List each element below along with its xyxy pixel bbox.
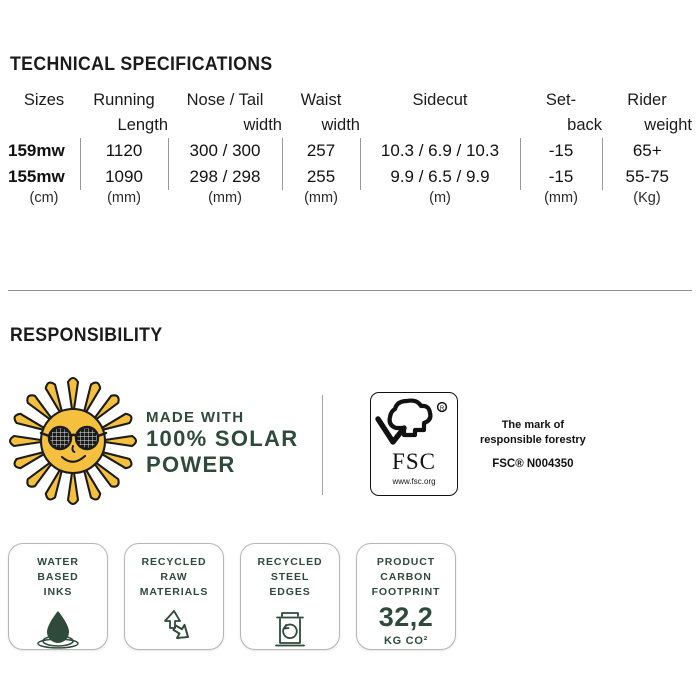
solar-line-1: MADE WITH	[146, 409, 298, 426]
section-divider	[8, 290, 692, 291]
col-header-waist-width: Waist width	[282, 88, 360, 138]
eco-label-line-1: RECYCLED	[142, 556, 207, 568]
col-header-setback-line2: back	[520, 113, 602, 138]
cell-sidecut: 9.9 / 6.5 / 9.9	[360, 164, 520, 190]
eco-badge-recycled-raw-materials: RECYCLED RAW MATERIALS	[124, 543, 224, 650]
sun-with-sunglasses-icon	[8, 376, 138, 511]
eco-badge-label: PRODUCT CARBON FOOTPRINT	[372, 555, 441, 601]
unit-nose-tail-width: (mm)	[168, 190, 282, 206]
cell-size: 155mw	[8, 164, 80, 190]
cell-nose-tail-width: 300 / 300	[168, 138, 282, 164]
col-header-rider-weight: Rider weight	[602, 88, 692, 138]
svg-text:R: R	[440, 406, 445, 412]
cell-running-length: 1090	[80, 164, 168, 190]
table-units-row: (cm) (mm) (mm) (mm) (m) (mm) (Kg)	[8, 190, 692, 206]
col-header-sizes: Sizes	[8, 88, 80, 138]
fsc-certification-block: R FSC www.fsc.org The mark of responsibl…	[370, 392, 586, 496]
cell-nose-tail-width: 298 / 298	[168, 164, 282, 190]
cell-rider-weight: 65+	[602, 138, 692, 164]
col-header-nose-tail-width: Nose / Tail width	[168, 88, 282, 138]
eco-label-line-2: RAW	[160, 571, 187, 583]
eco-badge-recycled-steel-edges: RECYCLED STEEL EDGES	[240, 543, 340, 650]
eco-label-line-1: PRODUCT	[377, 556, 435, 568]
solar-power-text: MADE WITH 100% SOLAR POWER	[146, 409, 298, 477]
recycling-arrows-icon	[152, 607, 196, 649]
fsc-caption-line-2: responsible forestry	[480, 433, 586, 448]
cell-waist-width: 255	[282, 164, 360, 190]
product-spec-page: TECHNICAL SPECIFICATIONS Sizes Running L…	[0, 0, 700, 700]
eco-badge-product-carbon-footprint: PRODUCT CARBON FOOTPRINT 32,2 KG CO²	[356, 543, 456, 650]
col-header-running-length-line2: Length	[80, 113, 168, 138]
cell-running-length: 1120	[80, 138, 168, 164]
col-header-sidecut-line1: Sidecut	[360, 88, 520, 113]
eco-label-line-3: INKS	[44, 586, 73, 598]
eco-badge-label: RECYCLED STEEL EDGES	[258, 555, 323, 601]
table-row: 159mw 1120 300 / 300 257 10.3 / 6.9 / 10…	[8, 138, 692, 164]
technical-specifications-heading: TECHNICAL SPECIFICATIONS	[10, 54, 273, 76]
fsc-caption: The mark of responsible forestry FSC® N0…	[480, 418, 586, 470]
col-header-sidecut: Sidecut	[360, 88, 520, 138]
recycle-bin-icon	[269, 607, 311, 651]
technical-specifications-table: Sizes Running Length Nose / Tail width W…	[8, 88, 692, 206]
carbon-footprint-value: 32,2	[379, 604, 434, 631]
solar-line-2: 100% SOLAR	[146, 426, 298, 452]
solar-power-block: MADE WITH 100% SOLAR POWER	[8, 378, 308, 508]
solar-line-3: POWER	[146, 452, 298, 478]
fsc-caption-line-1: The mark of	[480, 418, 586, 433]
eco-badges-row: WATER BASED INKS RECYCLED RAW MATERIALS	[8, 543, 456, 650]
eco-label-line-2: CARBON	[380, 571, 431, 583]
spec-table-body: 159mw 1120 300 / 300 257 10.3 / 6.9 / 10…	[8, 138, 692, 206]
col-header-nose-tail-width-line1: Nose / Tail	[168, 88, 282, 113]
col-header-rider-weight-line2: weight	[602, 113, 692, 138]
col-header-waist-width-line1: Waist	[282, 88, 360, 113]
eco-badge-label: WATER BASED INKS	[37, 555, 79, 601]
eco-label-line-1: WATER	[37, 556, 79, 568]
eco-badge-label: RECYCLED RAW MATERIALS	[140, 555, 209, 601]
fsc-url-label: www.fsc.org	[371, 477, 457, 486]
unit-sidecut: (m)	[360, 190, 520, 206]
solar-fsc-divider	[322, 395, 323, 495]
eco-label-line-2: BASED	[37, 571, 78, 583]
fsc-license-code: FSC® N004350	[480, 458, 586, 470]
fsc-logo-box: R FSC www.fsc.org	[370, 392, 458, 496]
eco-label-line-2: STEEL	[271, 571, 309, 583]
eco-label-line-3: EDGES	[269, 586, 310, 598]
eco-label-line-1: RECYCLED	[258, 556, 323, 568]
col-header-nose-tail-width-line2: width	[168, 113, 282, 138]
cell-setback: -15	[520, 138, 602, 164]
cell-rider-weight: 55-75	[602, 164, 692, 190]
table-row: 155mw 1090 298 / 298 255 9.9 / 6.5 / 9.9…	[8, 164, 692, 190]
water-droplet-icon	[35, 607, 81, 649]
eco-label-line-3: FOOTPRINT	[372, 586, 441, 598]
unit-setback: (mm)	[520, 190, 602, 206]
col-header-running-length: Running Length	[80, 88, 168, 138]
col-header-setback-line1: Set-	[520, 88, 602, 113]
eco-badge-water-based-inks: WATER BASED INKS	[8, 543, 108, 650]
spec-table-head: Sizes Running Length Nose / Tail width W…	[8, 88, 692, 138]
carbon-footprint-unit: KG CO²	[384, 635, 428, 647]
unit-rider-weight: (Kg)	[602, 190, 692, 206]
responsibility-heading: RESPONSIBILITY	[10, 325, 162, 347]
col-header-rider-weight-line1: Rider	[602, 88, 692, 113]
eco-label-line-3: MATERIALS	[140, 586, 209, 598]
unit-size: (cm)	[8, 190, 80, 206]
cell-waist-width: 257	[282, 138, 360, 164]
spec-table-header-row: Sizes Running Length Nose / Tail width W…	[8, 88, 692, 138]
cell-sidecut: 10.3 / 6.9 / 10.3	[360, 138, 520, 164]
fsc-abbreviation: FSC	[371, 449, 457, 475]
cell-setback: -15	[520, 164, 602, 190]
col-header-running-length-line1: Running	[80, 88, 168, 113]
col-header-waist-width-line2: width	[282, 113, 360, 138]
unit-running-length: (mm)	[80, 190, 168, 206]
unit-waist-width: (mm)	[282, 190, 360, 206]
col-header-sizes-line1: Sizes	[8, 88, 80, 113]
col-header-setback: Set- back	[520, 88, 602, 138]
cell-size: 159mw	[8, 138, 80, 164]
